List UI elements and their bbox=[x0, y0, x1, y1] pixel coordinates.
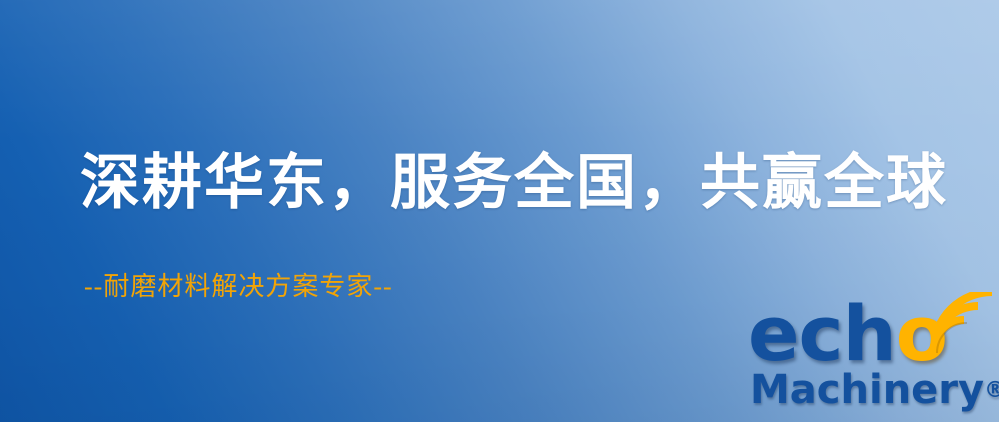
banner-headline: 深耕华东，服务全国，共赢全球 bbox=[80, 152, 948, 215]
echo-machinery-logo: echo Machinery® bbox=[742, 296, 999, 422]
banner-subtitle: --耐磨材料解决方案专家-- bbox=[84, 266, 393, 303]
signal-waves-icon bbox=[928, 292, 999, 354]
logo-subtext: Machinery® bbox=[750, 370, 999, 411]
logo-wordmark: echo bbox=[748, 296, 947, 372]
registered-trademark-icon: ® bbox=[984, 378, 999, 403]
promo-banner: 深耕华东，服务全国，共赢全球 --耐磨材料解决方案专家-- echo Machi… bbox=[0, 0, 999, 422]
logo-word-ech: ech bbox=[748, 289, 896, 378]
logo-machinery-text: Machinery bbox=[750, 367, 984, 413]
